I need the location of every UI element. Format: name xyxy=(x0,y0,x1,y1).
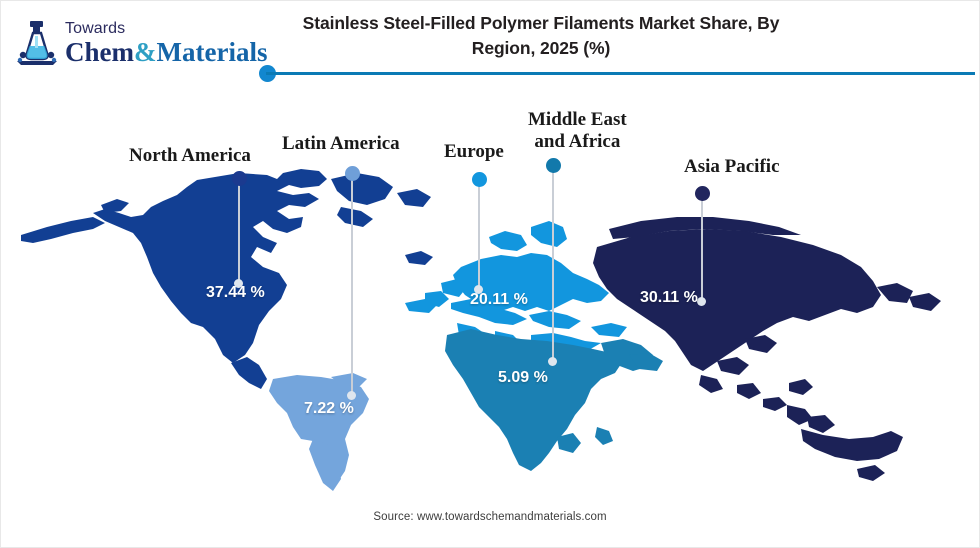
region-label-mea-line2: and Africa xyxy=(534,131,620,152)
brand-wordmark: Towards Chem&Materials xyxy=(65,21,267,66)
source-note: Source: www.towardschemandmaterials.com xyxy=(1,511,979,523)
pin-stem-latin-america xyxy=(351,179,353,395)
region-label-middle-east-and-africa: Middle Eastand Africa xyxy=(528,109,627,153)
brand-line-towards: Towards xyxy=(65,21,267,37)
region-label-asia-pacific: Asia Pacific xyxy=(684,156,780,178)
flask-icon xyxy=(15,19,59,67)
region-label-europe: Europe xyxy=(444,141,504,163)
pin-dot-europe[interactable] xyxy=(472,172,487,187)
value-label-north-america: 37.44 % xyxy=(206,284,265,302)
region-shape-north-america[interactable] xyxy=(21,169,433,397)
pin-stem-europe xyxy=(478,185,480,289)
region-label-north-america: North America xyxy=(129,145,251,167)
region-label-latin-america: Latin America xyxy=(282,133,400,155)
region-label-mea-line1: Middle East xyxy=(528,109,627,130)
value-label-asia-pacific: 30.11 % xyxy=(640,289,698,307)
brand-ampersand: & xyxy=(134,37,157,67)
pin-stem-asia-pacific xyxy=(701,199,703,301)
infographic-slide: Towards Chem&Materials Stainless Steel-F… xyxy=(0,0,980,548)
brand-line-chem-materials: Chem&Materials xyxy=(65,39,267,66)
pin-stem-north-america xyxy=(238,183,240,283)
brand-word-materials: Materials xyxy=(157,37,268,67)
pin-dot-asia-pacific[interactable] xyxy=(695,186,710,201)
pin-dot-north-america[interactable] xyxy=(232,171,247,186)
value-label-europe: 20.11 % xyxy=(470,291,528,309)
brand-logo-block: Towards Chem&Materials xyxy=(15,19,267,67)
region-shape-europe[interactable] xyxy=(405,221,627,351)
header-divider xyxy=(266,72,975,75)
region-shape-latin-america[interactable] xyxy=(269,373,369,491)
value-label-middle-east-and-africa: 5.09 % xyxy=(498,369,548,387)
pin-dot-middle-east-and-africa[interactable] xyxy=(546,158,561,173)
value-label-latin-america: 7.22 % xyxy=(304,400,354,418)
page-title: Stainless Steel-Filled Polymer Filaments… xyxy=(301,11,781,62)
region-shape-middle-east-and-africa[interactable] xyxy=(445,329,663,471)
pin-dot-latin-america[interactable] xyxy=(345,166,360,181)
brand-word-chem: Chem xyxy=(65,37,134,67)
pin-foot-latin-america xyxy=(347,391,356,400)
pin-foot-middle-east-and-africa xyxy=(548,357,557,366)
pin-foot-asia-pacific xyxy=(697,297,706,306)
pin-stem-middle-east-and-africa xyxy=(552,171,554,361)
